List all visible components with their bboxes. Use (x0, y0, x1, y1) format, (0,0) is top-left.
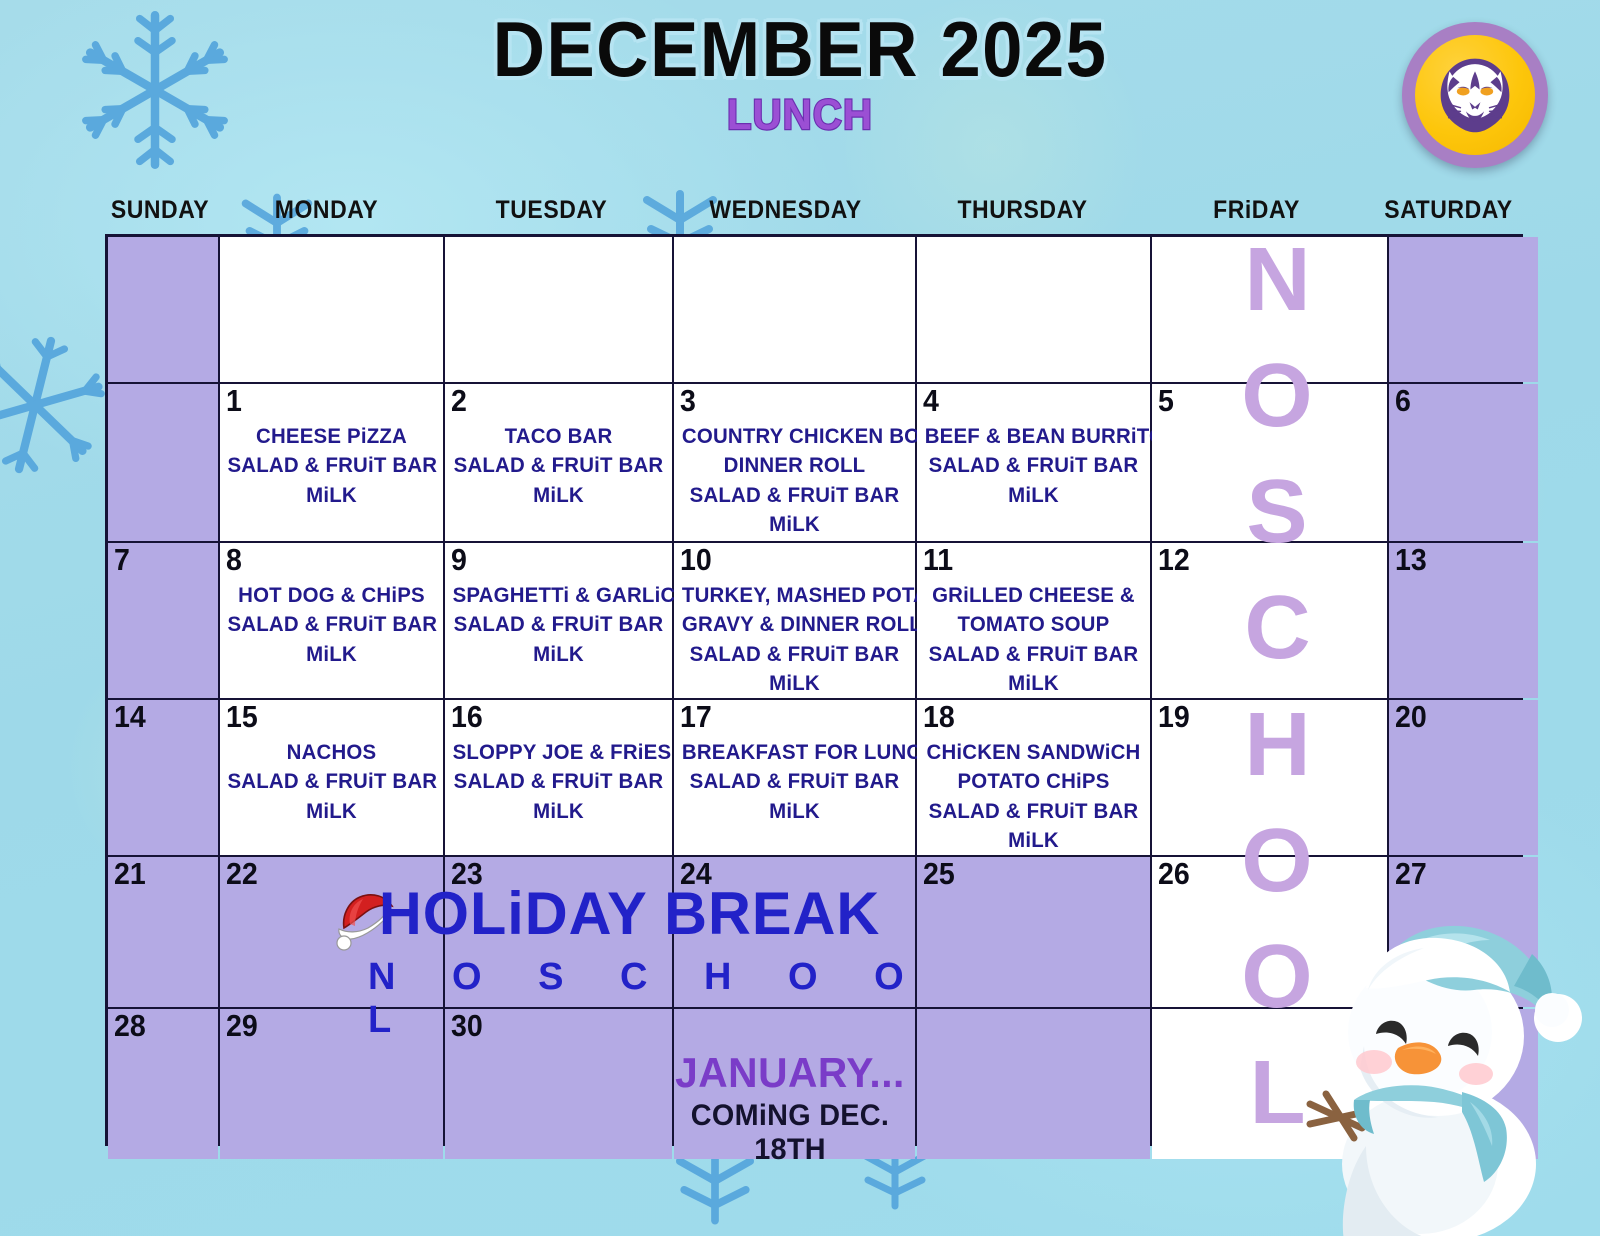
menu-line: SALAD & FRUiT BAR (453, 767, 665, 796)
menu-line: TURKEY, MASHED POTATOES (682, 581, 907, 610)
menu-line: SALAD & FRUiT BAR (682, 481, 907, 510)
calendar-cell-empty-sunday-0 (108, 237, 218, 382)
menu-line: CHEESE PiZZA (227, 422, 435, 451)
calendar-cell-empty-monday-0 (220, 237, 443, 382)
calendar-cell-5: 5 (1152, 384, 1387, 541)
menu-items: TACO BARSALAD & FRUiT BARMiLK (453, 422, 665, 510)
calendar-cell-empty-wednesday-5 (674, 1009, 915, 1159)
school-logo (1402, 22, 1548, 168)
cougar-head-icon (1429, 55, 1521, 135)
calendar-cell-12: 12 (1152, 543, 1387, 698)
menu-line: BEEF & BEAN BURRiTO (925, 422, 1143, 451)
calendar-cell-22: 22 (220, 857, 443, 1007)
menu-line: MiLK (925, 481, 1143, 510)
calendar-cell-empty-friday-0 (1152, 237, 1387, 382)
calendar-cell-14: 14 (108, 700, 218, 855)
calendar-cell-16: 16SLOPPY JOE & FRiESSALAD & FRUiT BARMiL… (445, 700, 672, 855)
weekday-label-saturday: SATURDAY (1380, 196, 1517, 225)
date-number: 16 (451, 701, 483, 734)
calendar-cell-13: 13 (1389, 543, 1538, 698)
menu-line: MiLK (453, 797, 665, 826)
menu-line: SALAD & FRUiT BAR (925, 451, 1143, 480)
menu-line: SALAD & FRUiT BAR (682, 767, 907, 796)
date-number: 2 (451, 385, 467, 418)
date-number: 20 (1395, 701, 1427, 734)
date-number: 22 (226, 858, 258, 891)
calendar-cell-2: 2TACO BARSALAD & FRUiT BARMiLK (445, 384, 672, 541)
date-number: 11 (923, 544, 953, 577)
date-number: 4 (923, 385, 939, 418)
date-number: 12 (1158, 544, 1190, 577)
date-number: 3 (680, 385, 696, 418)
menu-line: GRiLLED CHEESE & (925, 581, 1143, 610)
menu-line: SALAD & FRUiT BAR (227, 451, 435, 480)
menu-items: SPAGHETTi & GARLiC KNOTSALAD & FRUiT BAR… (453, 581, 665, 669)
date-number: 19 (1158, 701, 1190, 734)
date-number: 30 (451, 1010, 483, 1043)
menu-line: POTATO CHiPS (925, 767, 1143, 796)
date-number: 23 (451, 858, 483, 891)
menu-items: HOT DOG & CHiPSSALAD & FRUiT BARMiLK (227, 581, 435, 669)
calendar-cell-23: 23 (445, 857, 672, 1007)
menu-line: SALAD & FRUiT BAR (453, 451, 665, 480)
menu-line: SALAD & FRUiT BAR (925, 797, 1143, 826)
calendar-cell-empty-wednesday-0 (674, 237, 915, 382)
menu-line: SALAD & FRUiT BAR (925, 640, 1143, 669)
menu-line: TACO BAR (453, 422, 665, 451)
menu-items: COUNTRY CHICKEN BOWLDINNER ROLLSALAD & F… (682, 422, 907, 540)
date-number: 9 (451, 544, 467, 577)
date-number: 27 (1395, 858, 1427, 891)
calendar-cell-empty-thursday-5 (917, 1009, 1150, 1159)
weekday-label-friday: FRiDAY (1148, 196, 1364, 225)
menu-line: MiLK (925, 826, 1143, 855)
calendar-cell-empty-saturday-5 (1389, 1009, 1538, 1159)
menu-items: SLOPPY JOE & FRiESSALAD & FRUiT BARMiLK (453, 738, 665, 826)
date-number: 6 (1395, 385, 1411, 418)
calendar-cell-4: 4BEEF & BEAN BURRiTOSALAD & FRUiT BARMiL… (917, 384, 1150, 541)
menu-line: DINNER ROLL (682, 451, 907, 480)
calendar-cell-11: 11GRiLLED CHEESE &TOMATO SOUPSALAD & FRU… (917, 543, 1150, 698)
menu-line: HOT DOG & CHiPS (227, 581, 435, 610)
date-number: 15 (226, 701, 258, 734)
date-number: 10 (680, 544, 712, 577)
date-number: 21 (114, 858, 146, 891)
weekday-header-row: SUNDAY MONDAY TUESDAY WEDNESDAY THURSDAY… (105, 196, 1523, 225)
menu-items: NACHOSSALAD & FRUiT BARMiLK (227, 738, 435, 826)
weekday-label-sunday: SUNDAY (109, 196, 210, 225)
weekday-label-wednesday: WEDNESDAY (675, 196, 897, 225)
menu-line: CHiCKEN SANDWiCH (925, 738, 1143, 767)
menu-line: SALAD & FRUiT BAR (227, 767, 435, 796)
snowflake-icon (660, 1148, 770, 1236)
calendar-cell-19: 19 (1152, 700, 1387, 855)
date-number: 13 (1395, 544, 1427, 577)
menu-line: BREAKFAST FOR LUNCH (682, 738, 907, 767)
calendar-cell-21: 21 (108, 857, 218, 1007)
menu-line: MiLK (453, 481, 665, 510)
menu-items: BREAKFAST FOR LUNCHSALAD & FRUiT BARMiLK (682, 738, 907, 826)
menu-items: GRiLLED CHEESE &TOMATO SOUPSALAD & FRUiT… (925, 581, 1143, 699)
menu-line: MiLK (453, 640, 665, 669)
date-number: 8 (226, 544, 242, 577)
calendar-cell-18: 18CHiCKEN SANDWiCHPOTATO CHiPSSALAD & FR… (917, 700, 1150, 855)
date-number: 26 (1158, 858, 1190, 891)
calendar-cell-empty-thursday-0 (917, 237, 1150, 382)
date-number: 7 (114, 544, 130, 577)
menu-line: MiLK (227, 640, 435, 669)
calendar-cell-29: 29 (220, 1009, 443, 1159)
menu-line: TOMATO SOUP (925, 610, 1143, 639)
date-number: 5 (1158, 385, 1174, 418)
calendar-cell-25: 25 (917, 857, 1150, 1007)
calendar-grid: 1CHEESE PiZZASALAD & FRUiT BARMiLK2TACO … (105, 234, 1523, 1146)
calendar-cell-10: 10TURKEY, MASHED POTATOESGRAVY & DINNER … (674, 543, 915, 698)
date-number: 28 (114, 1010, 146, 1043)
menu-line: MiLK (682, 669, 907, 698)
menu-line: SLOPPY JOE & FRiES (453, 738, 665, 767)
date-number: 29 (226, 1010, 258, 1043)
page-title: DECEMBER 2025 (56, 12, 1544, 87)
calendar-cell-9: 9SPAGHETTi & GARLiC KNOTSALAD & FRUiT BA… (445, 543, 672, 698)
calendar-cell-17: 17BREAKFAST FOR LUNCHSALAD & FRUiT BARMi… (674, 700, 915, 855)
menu-items: TURKEY, MASHED POTATOESGRAVY & DINNER RO… (682, 581, 907, 699)
menu-line: MiLK (925, 669, 1143, 698)
calendar-cell-6: 6 (1389, 384, 1538, 541)
date-number: 18 (923, 701, 955, 734)
menu-line: MiLK (682, 510, 907, 539)
menu-line: COUNTRY CHICKEN BOWL (682, 422, 907, 451)
menu-items: CHEESE PiZZASALAD & FRUiT BARMiLK (227, 422, 435, 510)
date-number: 25 (923, 858, 955, 891)
calendar-cell-empty-sunday-1 (108, 384, 218, 541)
calendar-cell-24: 24 (674, 857, 915, 1007)
school-logo-disc (1415, 35, 1535, 155)
calendar-cell-26: 26 (1152, 857, 1387, 1007)
calendar-cell-3: 3COUNTRY CHICKEN BOWLDINNER ROLLSALAD & … (674, 384, 915, 541)
menu-items: CHiCKEN SANDWiCHPOTATO CHiPSSALAD & FRUi… (925, 738, 1143, 856)
calendar-cell-8: 8HOT DOG & CHiPSSALAD & FRUiT BARMiLK (220, 543, 443, 698)
menu-line: MiLK (227, 797, 435, 826)
menu-line: NACHOS (227, 738, 435, 767)
weekday-label-thursday: THURSDAY (915, 196, 1129, 225)
calendar-cell-27: 27 (1389, 857, 1538, 1007)
menu-line: GRAVY & DINNER ROLL (682, 610, 907, 639)
menu-line: SALAD & FRUiT BAR (227, 610, 435, 639)
date-number: 1 (226, 385, 242, 418)
date-number: 17 (680, 701, 712, 734)
calendar-cell-7: 7 (108, 543, 218, 698)
date-number: 14 (114, 701, 146, 734)
menu-items: BEEF & BEAN BURRiTOSALAD & FRUiT BARMiLK (925, 422, 1143, 510)
calendar-cell-15: 15NACHOSSALAD & FRUiT BARMiLK (220, 700, 443, 855)
menu-line: MiLK (227, 481, 435, 510)
calendar-cell-28: 28 (108, 1009, 218, 1159)
date-number: 24 (680, 858, 712, 891)
menu-line: SALAD & FRUiT BAR (453, 610, 665, 639)
calendar-cell-empty-tuesday-0 (445, 237, 672, 382)
weekday-label-monday: MONDAY (224, 196, 429, 225)
calendar-header: DECEMBER 2025 LUNCH (0, 12, 1600, 140)
menu-line: MiLK (682, 797, 907, 826)
meal-type-label: LUNCH (48, 91, 1552, 140)
calendar-cell-empty-friday-5 (1152, 1009, 1387, 1159)
calendar-cell-30: 30 (445, 1009, 672, 1159)
calendar-cell-empty-saturday-0 (1389, 237, 1538, 382)
calendar-cell-1: 1CHEESE PiZZASALAD & FRUiT BARMiLK (220, 384, 443, 541)
menu-line: SALAD & FRUiT BAR (682, 640, 907, 669)
menu-line: SPAGHETTi & GARLiC KNOT (453, 581, 665, 610)
calendar-cell-20: 20 (1389, 700, 1538, 855)
weekday-label-tuesday: TUESDAY (447, 196, 656, 225)
